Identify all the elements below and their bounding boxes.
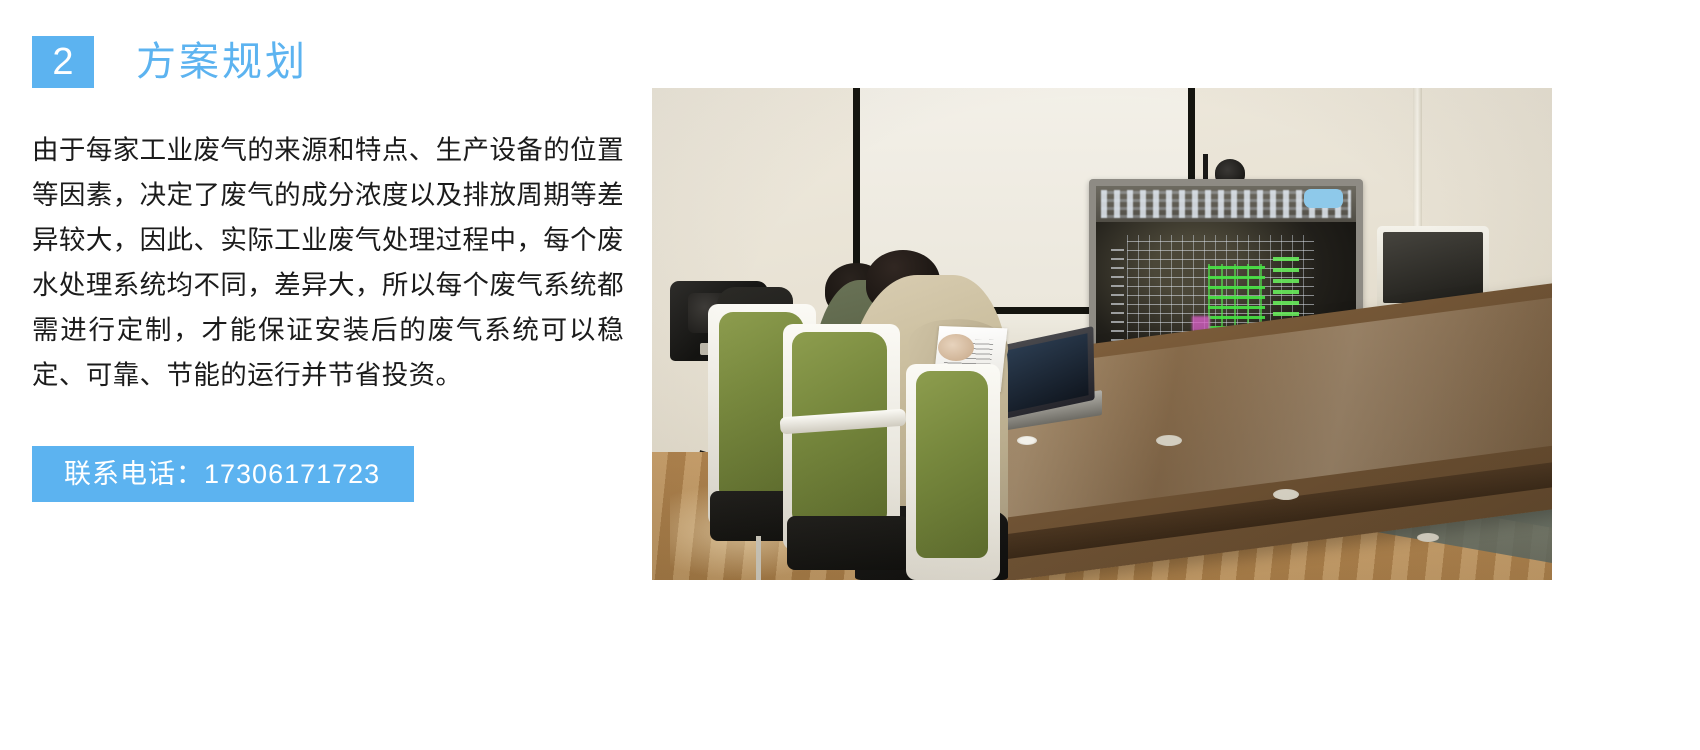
table-cable-grommet bbox=[1273, 489, 1299, 500]
section-number-badge: 2 bbox=[32, 36, 94, 88]
table-cable-grommet bbox=[1156, 435, 1182, 446]
body-paragraph: 由于每家工业废气的来源和特点、生产设备的位置等因素，决定了废气的成分浓度以及排放… bbox=[32, 128, 624, 398]
meeting-room-photo bbox=[652, 88, 1552, 580]
contact-phone-button[interactable]: 联系电话：17306171723 bbox=[32, 446, 414, 502]
chair-1-leg bbox=[756, 536, 761, 580]
page-title: 方案规划 bbox=[136, 36, 308, 88]
photo-canvas bbox=[652, 88, 1552, 580]
chair-3-back bbox=[916, 371, 988, 558]
section-header: 2 方案规划 bbox=[32, 36, 632, 88]
chair-2-seat bbox=[787, 516, 909, 570]
person-front-hand bbox=[938, 334, 974, 361]
content-column: 2 方案规划 由于每家工业废气的来源和特点、生产设备的位置等因素，决定了废气的成… bbox=[32, 36, 632, 502]
slide-page: 2 方案规划 由于每家工业废气的来源和特点、生产设备的位置等因素，决定了废气的成… bbox=[0, 0, 1700, 750]
cad-active-tab bbox=[1304, 189, 1343, 208]
monitor-screen bbox=[1383, 232, 1484, 304]
